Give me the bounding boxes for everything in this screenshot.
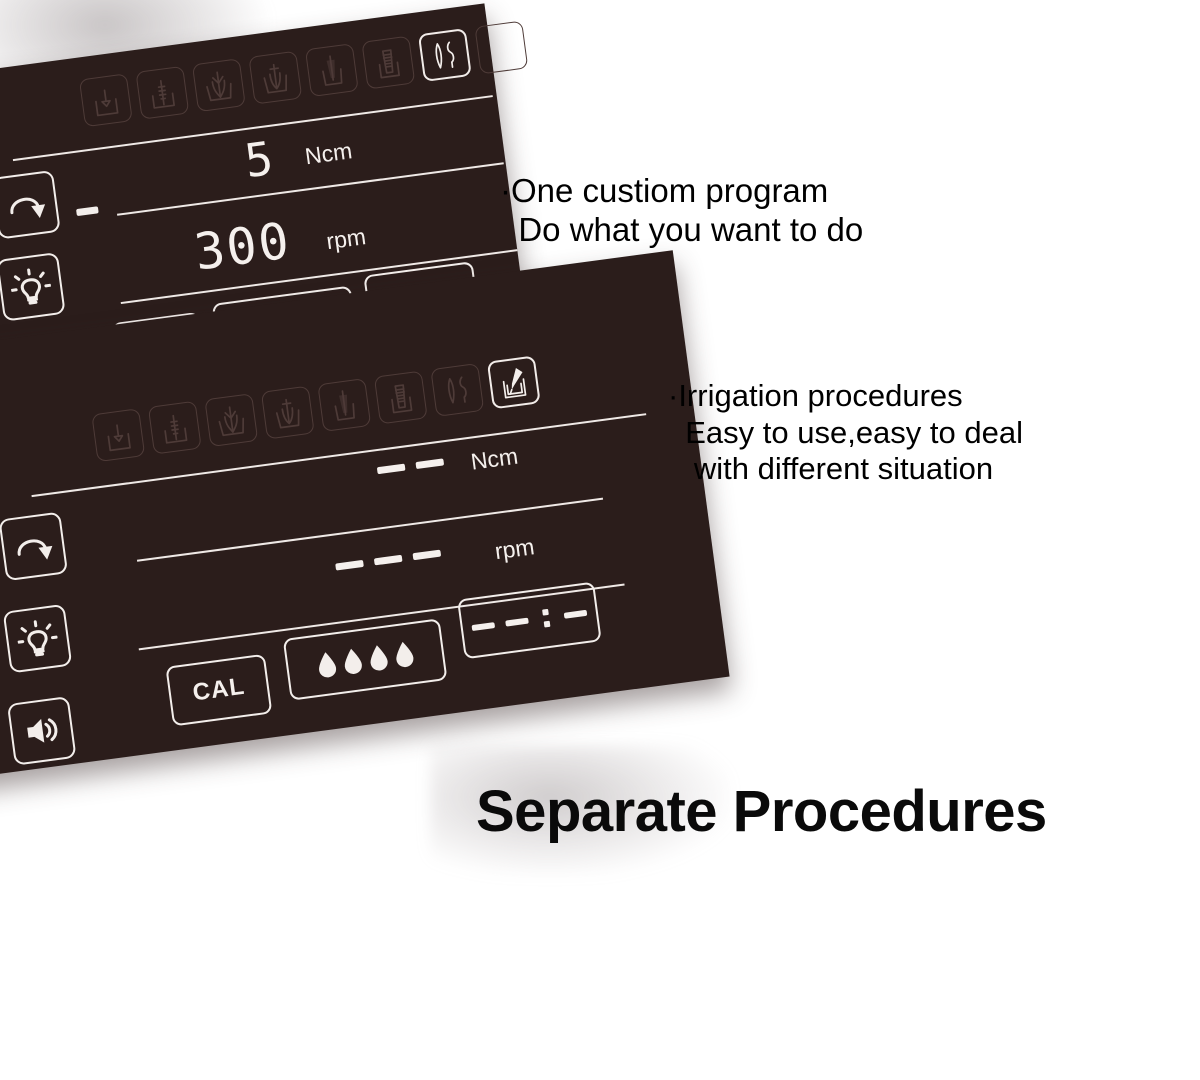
implant-tap-icon[interactable] [305,43,359,97]
annotation-line: with different situation [668,451,993,486]
annotation-line: ·One custiom program [500,172,828,209]
speaker-icon [19,708,64,753]
irrigation-level-button[interactable] [283,618,448,700]
torque-unit: Ncm [303,137,353,170]
drill-shaping-icon[interactable] [192,58,246,112]
torque-value [377,458,444,474]
rotation-arrow-icon [11,524,56,569]
slide-headline: Separate Procedures [476,778,1047,845]
implant-placement-icon[interactable] [361,36,415,90]
speed-value: 300 [191,211,294,281]
speed-value [335,550,441,571]
rotation-direction-button[interactable] [0,512,68,582]
procedure-icon-row[interactable] [91,355,540,462]
drill-countersink-icon[interactable] [261,386,315,440]
annotation-custom-program: ·One custiom program Do what you want to… [500,172,863,250]
implant-tap-icon[interactable] [317,378,371,432]
implant-placement-icon[interactable] [374,371,428,425]
handpiece-light-button[interactable] [3,604,73,674]
speed-unit: rpm [493,533,536,565]
water-drop-filled-icon [315,650,337,679]
torque-bar-indicator [76,206,99,216]
gear-ratio-display [457,582,602,660]
slide-canvas: 5 Ncm 300 rpm CAL 20: 1 [0,0,1200,1080]
water-drop-filled-icon [341,647,363,676]
torque-value: 5 [242,131,279,188]
divider-torque [117,162,504,216]
drill-twist-icon[interactable] [148,401,202,455]
surgical-tools-icon[interactable] [430,363,484,417]
torque-unit: Ncm [469,443,519,476]
surgical-tools-icon[interactable] [418,28,472,82]
annotation-line: ·Irrigation procedures [668,378,963,413]
water-drop-filled-icon [367,643,389,672]
annotation-line: Do what you want to do [500,211,863,248]
rotation-arrow-icon [4,182,49,227]
drill-twist-icon[interactable] [135,66,189,120]
volume-button[interactable] [7,696,77,766]
procedure-icon-row[interactable] [79,21,528,128]
drill-shaping-icon[interactable] [204,393,258,447]
annotation-line: Easy to use,easy to deal [668,415,1023,450]
irrigation-syringe-icon[interactable] [487,355,541,409]
bone-collection-icon[interactable] [474,21,528,75]
drill-pilot-icon[interactable] [79,73,133,127]
cal-button[interactable]: CAL [165,654,272,727]
cal-label: CAL [191,673,247,708]
annotation-irrigation: ·Irrigation procedures Easy to use,easy … [668,378,1023,488]
light-bulb-icon [8,264,53,309]
handpiece-light-button[interactable] [0,252,66,322]
drill-pilot-icon[interactable] [91,408,145,462]
speed-unit: rpm [325,223,368,255]
drill-countersink-icon[interactable] [248,51,302,105]
gear-ratio-value [471,604,588,637]
irrigation-panel: Ncm rpm CAL [0,250,730,786]
water-drop-filled-icon [393,640,415,669]
rotation-direction-button[interactable] [0,170,61,240]
light-bulb-icon [15,616,60,661]
irrigation-drops [315,640,415,680]
